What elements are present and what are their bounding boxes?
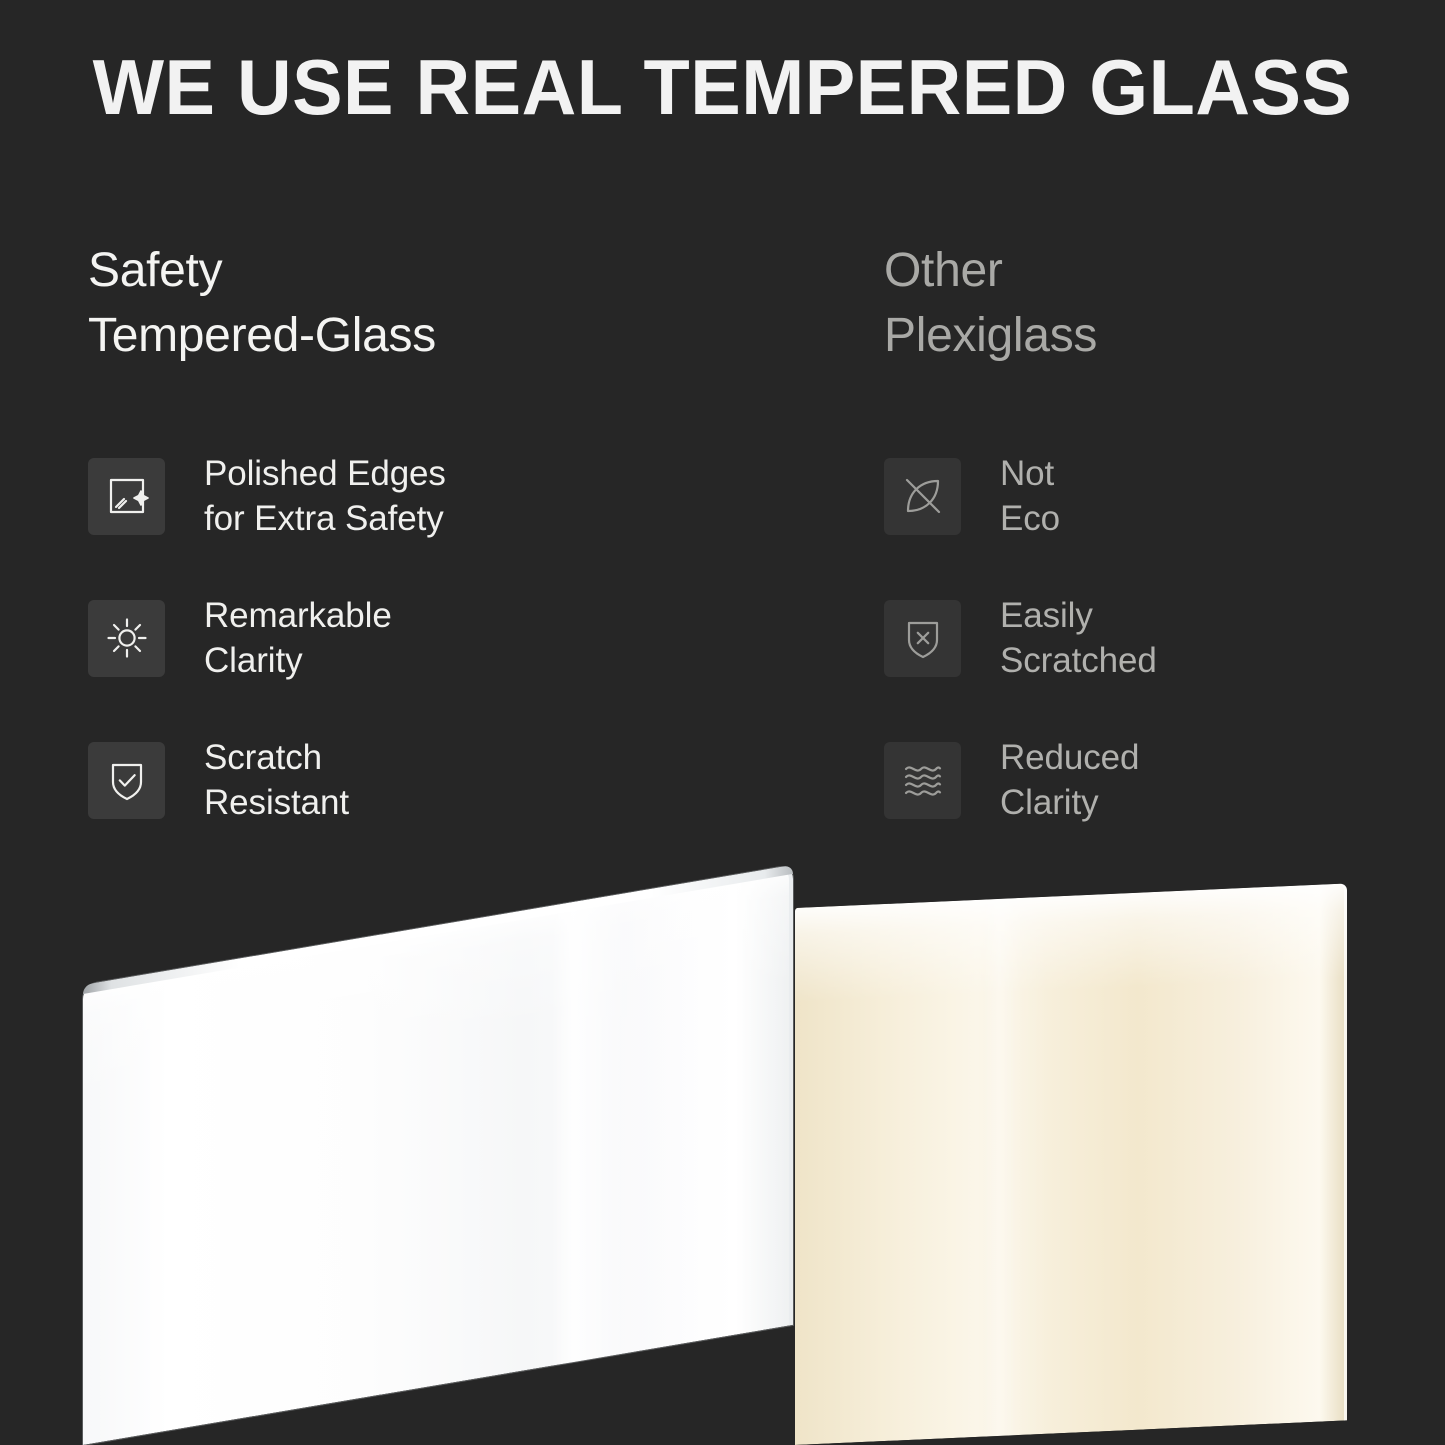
feature-row-polished-edges: Polished Edges for Extra Safety (88, 448, 788, 544)
column-heading-plexiglass: Other Plexiglass (884, 238, 1444, 368)
feature-label-reduced-clarity: Reduced Clarity (1000, 735, 1139, 825)
feature-label-scratch-resistant: Scratch Resistant (204, 735, 349, 825)
feature-row-reduced-clarity: Reduced Clarity (884, 732, 1444, 828)
sun-brightness-icon (88, 600, 165, 677)
feature-label-easily-scratched: Easily Scratched (1000, 593, 1157, 683)
plexiglass-panel (795, 883, 1347, 1445)
column-heading-tempered-glass: Safety Tempered-Glass (88, 238, 788, 368)
feature-row-remarkable-clarity: Remarkable Clarity (88, 590, 788, 686)
feature-list-tempered-glass: Polished Edges for Extra Safety Remarkab… (88, 448, 788, 874)
column-safety-tempered-glass: Safety Tempered-Glass Polished Edges for… (88, 238, 788, 368)
polished-glass-pane-icon (88, 458, 165, 535)
page-title: WE USE REAL TEMPERED GLASS (22, 44, 1424, 130)
feature-row-scratch-resistant: Scratch Resistant (88, 732, 788, 828)
column-other-plexiglass: Other Plexiglass Not Eco (884, 238, 1444, 368)
shield-x-icon (884, 600, 961, 677)
tempered-glass-panel (83, 865, 793, 1445)
feature-list-plexiglass: Not Eco Easily Scratched (884, 448, 1444, 874)
feature-row-easily-scratched: Easily Scratched (884, 590, 1444, 686)
feature-label-remarkable-clarity: Remarkable Clarity (204, 593, 392, 683)
feature-row-not-eco: Not Eco (884, 448, 1444, 544)
leaf-slash-icon (884, 458, 961, 535)
feature-label-polished-edges: Polished Edges for Extra Safety (204, 451, 446, 541)
wavy-lines-icon (884, 742, 961, 819)
product-comparison-photo (0, 845, 1445, 1445)
feature-label-not-eco: Not Eco (1000, 451, 1060, 541)
comparison-infographic: WE USE REAL TEMPERED GLASS Safety Temper… (0, 0, 1445, 1445)
shield-check-icon (88, 742, 165, 819)
